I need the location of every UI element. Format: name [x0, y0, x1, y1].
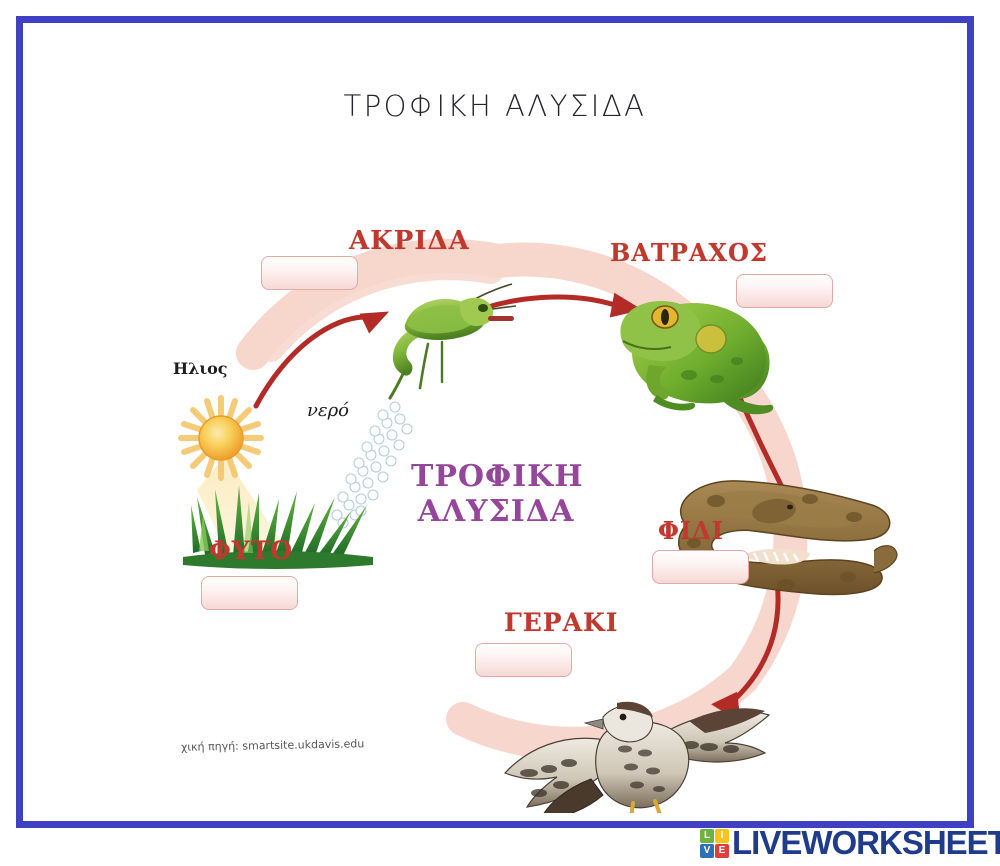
logo-tile-e: E	[715, 844, 729, 858]
logo-tile-i: I	[715, 829, 729, 843]
label-grasshopper: ΑΚΡΙΔΑ	[349, 226, 470, 256]
liveworksheets-logo-tiles: L I V E	[700, 829, 729, 858]
grasshopper-illustration	[390, 284, 516, 398]
answer-input-grasshopper[interactable]	[261, 256, 358, 290]
answer-input-plant[interactable]	[201, 576, 298, 610]
food-chain-illustration	[43, 53, 963, 813]
label-plant: ΦΥΤΟ	[209, 536, 293, 565]
logo-tile-l: L	[700, 829, 714, 843]
worksheet-page: ΤΡΟΦΙΚΗ ΑΛΥΣΙΔΑ	[0, 0, 1000, 866]
label-snake: ΦΙΔΙ	[658, 516, 724, 545]
hawk-illustration	[505, 702, 769, 813]
label-frog: ΒΑΤΡΑΧΟΣ	[610, 238, 768, 267]
center-title: ΤΡΟΦΙΚΗ ΑΛΥΣΙΔΑ	[411, 460, 581, 529]
answer-input-snake[interactable]	[652, 550, 749, 584]
logo-tile-v: V	[700, 844, 714, 858]
center-title-line1: ΤΡΟΦΙΚΗ	[411, 460, 581, 495]
label-sun: Ηλιος	[173, 359, 228, 378]
liveworksheets-wordmark: LIVEWORKSHEETS	[732, 824, 1000, 862]
label-water: νερό	[307, 400, 349, 421]
label-hawk: ΓΕΡΑΚΙ	[504, 608, 618, 637]
worksheet-frame: ΤΡΟΦΙΚΗ ΑΛΥΣΙΔΑ	[16, 16, 974, 828]
answer-input-hawk[interactable]	[475, 643, 572, 677]
center-title-line2: ΑΛΥΣΙΔΑ	[411, 495, 581, 530]
answer-input-frog[interactable]	[736, 274, 833, 308]
liveworksheets-logo: L I V E LIVEWORKSHEETS	[700, 824, 1000, 862]
food-chain-diagram	[43, 53, 963, 813]
